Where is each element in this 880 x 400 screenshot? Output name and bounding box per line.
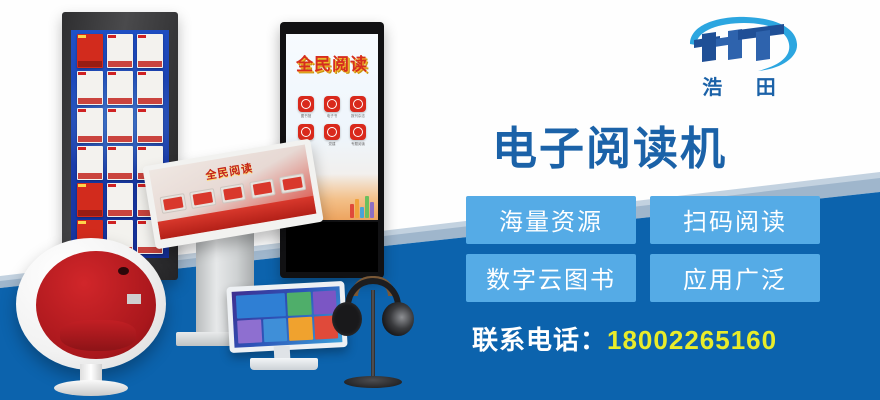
contact-label: 联系电话：	[472, 325, 607, 355]
feature-badge-group: 海量资源 扫码阅读 数字云图书 应用广泛	[466, 196, 820, 302]
table-kiosk-screen-title: 全民阅读	[204, 159, 254, 183]
signage-books-illustration	[350, 196, 374, 218]
table-card-3	[219, 183, 246, 204]
contact-line: 联系电话：18002265160	[472, 320, 777, 357]
signage-icon-1: 图书馆	[298, 96, 314, 112]
ht-monogram-icon	[676, 14, 802, 76]
brand-logo-name: 浩 田	[676, 71, 802, 100]
table-card-4	[249, 178, 276, 199]
chair-seat	[60, 320, 137, 350]
table-card-2	[190, 188, 217, 209]
contact-phone[interactable]: 18002265160	[607, 325, 777, 355]
promo-banner: 全民阅读 图书馆 电子书 报刊杂志 听书 党建 专题阅读	[0, 0, 880, 400]
signage-icon-4: 听书	[298, 124, 314, 140]
monitor-tile-grid	[236, 290, 338, 343]
signage-icon-2: 电子书	[324, 96, 340, 112]
feature-badge-3[interactable]: 数字云图书	[466, 254, 636, 302]
signage-lower-body	[286, 222, 378, 272]
monitor-tile-4	[237, 319, 262, 343]
table-card-5	[279, 173, 306, 194]
feature-badge-1[interactable]: 海量资源	[466, 196, 636, 244]
feature-badge-2[interactable]: 扫码阅读	[650, 196, 820, 244]
monitor-tile-6	[288, 317, 313, 341]
chair-shell	[16, 238, 166, 370]
chair-interior	[36, 251, 156, 359]
product-ball-chair	[16, 238, 166, 370]
book-cover-grid	[77, 34, 163, 254]
signage-icon-6: 专题阅读	[350, 124, 366, 140]
chair-speaker-hole	[118, 267, 129, 275]
monitor-screen	[232, 286, 343, 348]
page-title: 电子阅读机	[492, 112, 727, 177]
chair-hardware-tag	[127, 294, 141, 304]
signage-icon-5: 党建	[324, 124, 340, 140]
table-card-1	[160, 193, 187, 214]
signage-icon-3: 报刊杂志	[350, 96, 366, 112]
monitor-tile-1	[236, 293, 286, 319]
headphone-stand-base	[344, 376, 402, 388]
signage-screen-title: 全民阅读	[296, 50, 368, 75]
monitor-tile-2	[287, 292, 312, 316]
feature-badge-4[interactable]: 应用广泛	[650, 254, 820, 302]
chair-pedestal-base	[54, 380, 128, 396]
signage-icon-grid: 图书馆 电子书 报刊杂志 听书 党建 专题阅读	[296, 96, 368, 140]
brand-logo: 浩 田	[676, 14, 802, 100]
headphone-earcup-right	[382, 302, 414, 336]
product-headphones	[330, 276, 416, 388]
headphone-earcup-left	[332, 302, 362, 336]
monitor-tile-5	[263, 318, 288, 342]
monitor-foot	[250, 358, 318, 370]
